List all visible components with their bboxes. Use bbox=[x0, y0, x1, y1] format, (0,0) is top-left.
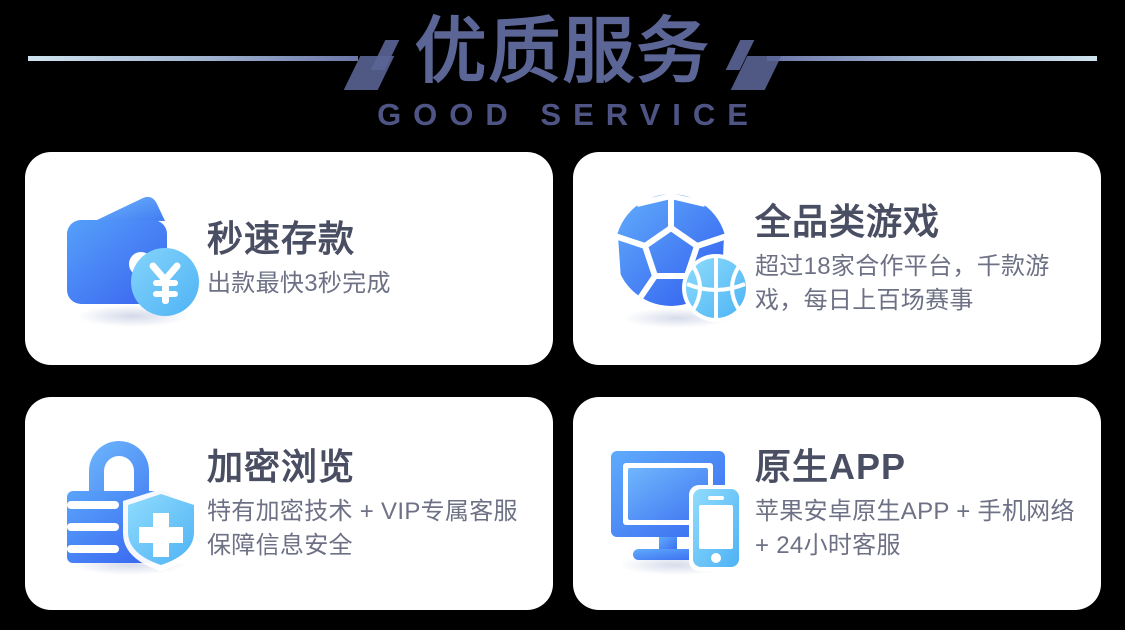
lock-shield-icon bbox=[57, 429, 207, 579]
promo-banner: 优质服务 GOOD SERVICE bbox=[0, 0, 1125, 630]
card-title: 加密浏览 bbox=[207, 445, 535, 489]
feature-card-deposit[interactable]: 秒速存款 出款最快3秒完成 bbox=[25, 152, 553, 365]
card-description: 超过18家合作平台，千款游戏，每日上百场赛事 bbox=[755, 250, 1083, 318]
card-description: 苹果安卓原生APP + 手机网络 + 24小时客服 bbox=[755, 495, 1083, 563]
page-subtitle: GOOD SERVICE bbox=[0, 98, 1125, 132]
feature-card-games[interactable]: 全品类游戏 超过18家合作平台，千款游戏，每日上百场赛事 bbox=[573, 152, 1101, 365]
card-text: 原生APP 苹果安卓原生APP + 手机网络 + 24小时客服 bbox=[755, 445, 1101, 563]
card-text: 秒速存款 出款最快3秒完成 bbox=[207, 217, 553, 301]
banner-header: 优质服务 GOOD SERVICE bbox=[0, 0, 1125, 148]
page-title: 优质服务 bbox=[0, 12, 1125, 92]
feature-card-encryption[interactable]: 加密浏览 特有加密技术 + VIP专属客服保障信息安全 bbox=[25, 397, 553, 610]
card-title: 原生APP bbox=[755, 445, 1083, 489]
feature-card-grid: 秒速存款 出款最快3秒完成 bbox=[25, 152, 1100, 610]
feature-card-native-app[interactable]: 原生APP 苹果安卓原生APP + 手机网络 + 24小时客服 bbox=[573, 397, 1101, 610]
card-description: 出款最快3秒完成 bbox=[207, 267, 535, 301]
card-text: 全品类游戏 超过18家合作平台，千款游戏，每日上百场赛事 bbox=[755, 200, 1101, 318]
card-title: 秒速存款 bbox=[207, 217, 535, 261]
card-title: 全品类游戏 bbox=[755, 200, 1083, 244]
card-description: 特有加密技术 + VIP专属客服保障信息安全 bbox=[207, 495, 535, 563]
card-text: 加密浏览 特有加密技术 + VIP专属客服保障信息安全 bbox=[207, 445, 553, 563]
wallet-yen-icon bbox=[57, 184, 207, 334]
soccer-basketball-icon bbox=[605, 184, 755, 334]
monitor-phone-icon bbox=[605, 429, 755, 579]
